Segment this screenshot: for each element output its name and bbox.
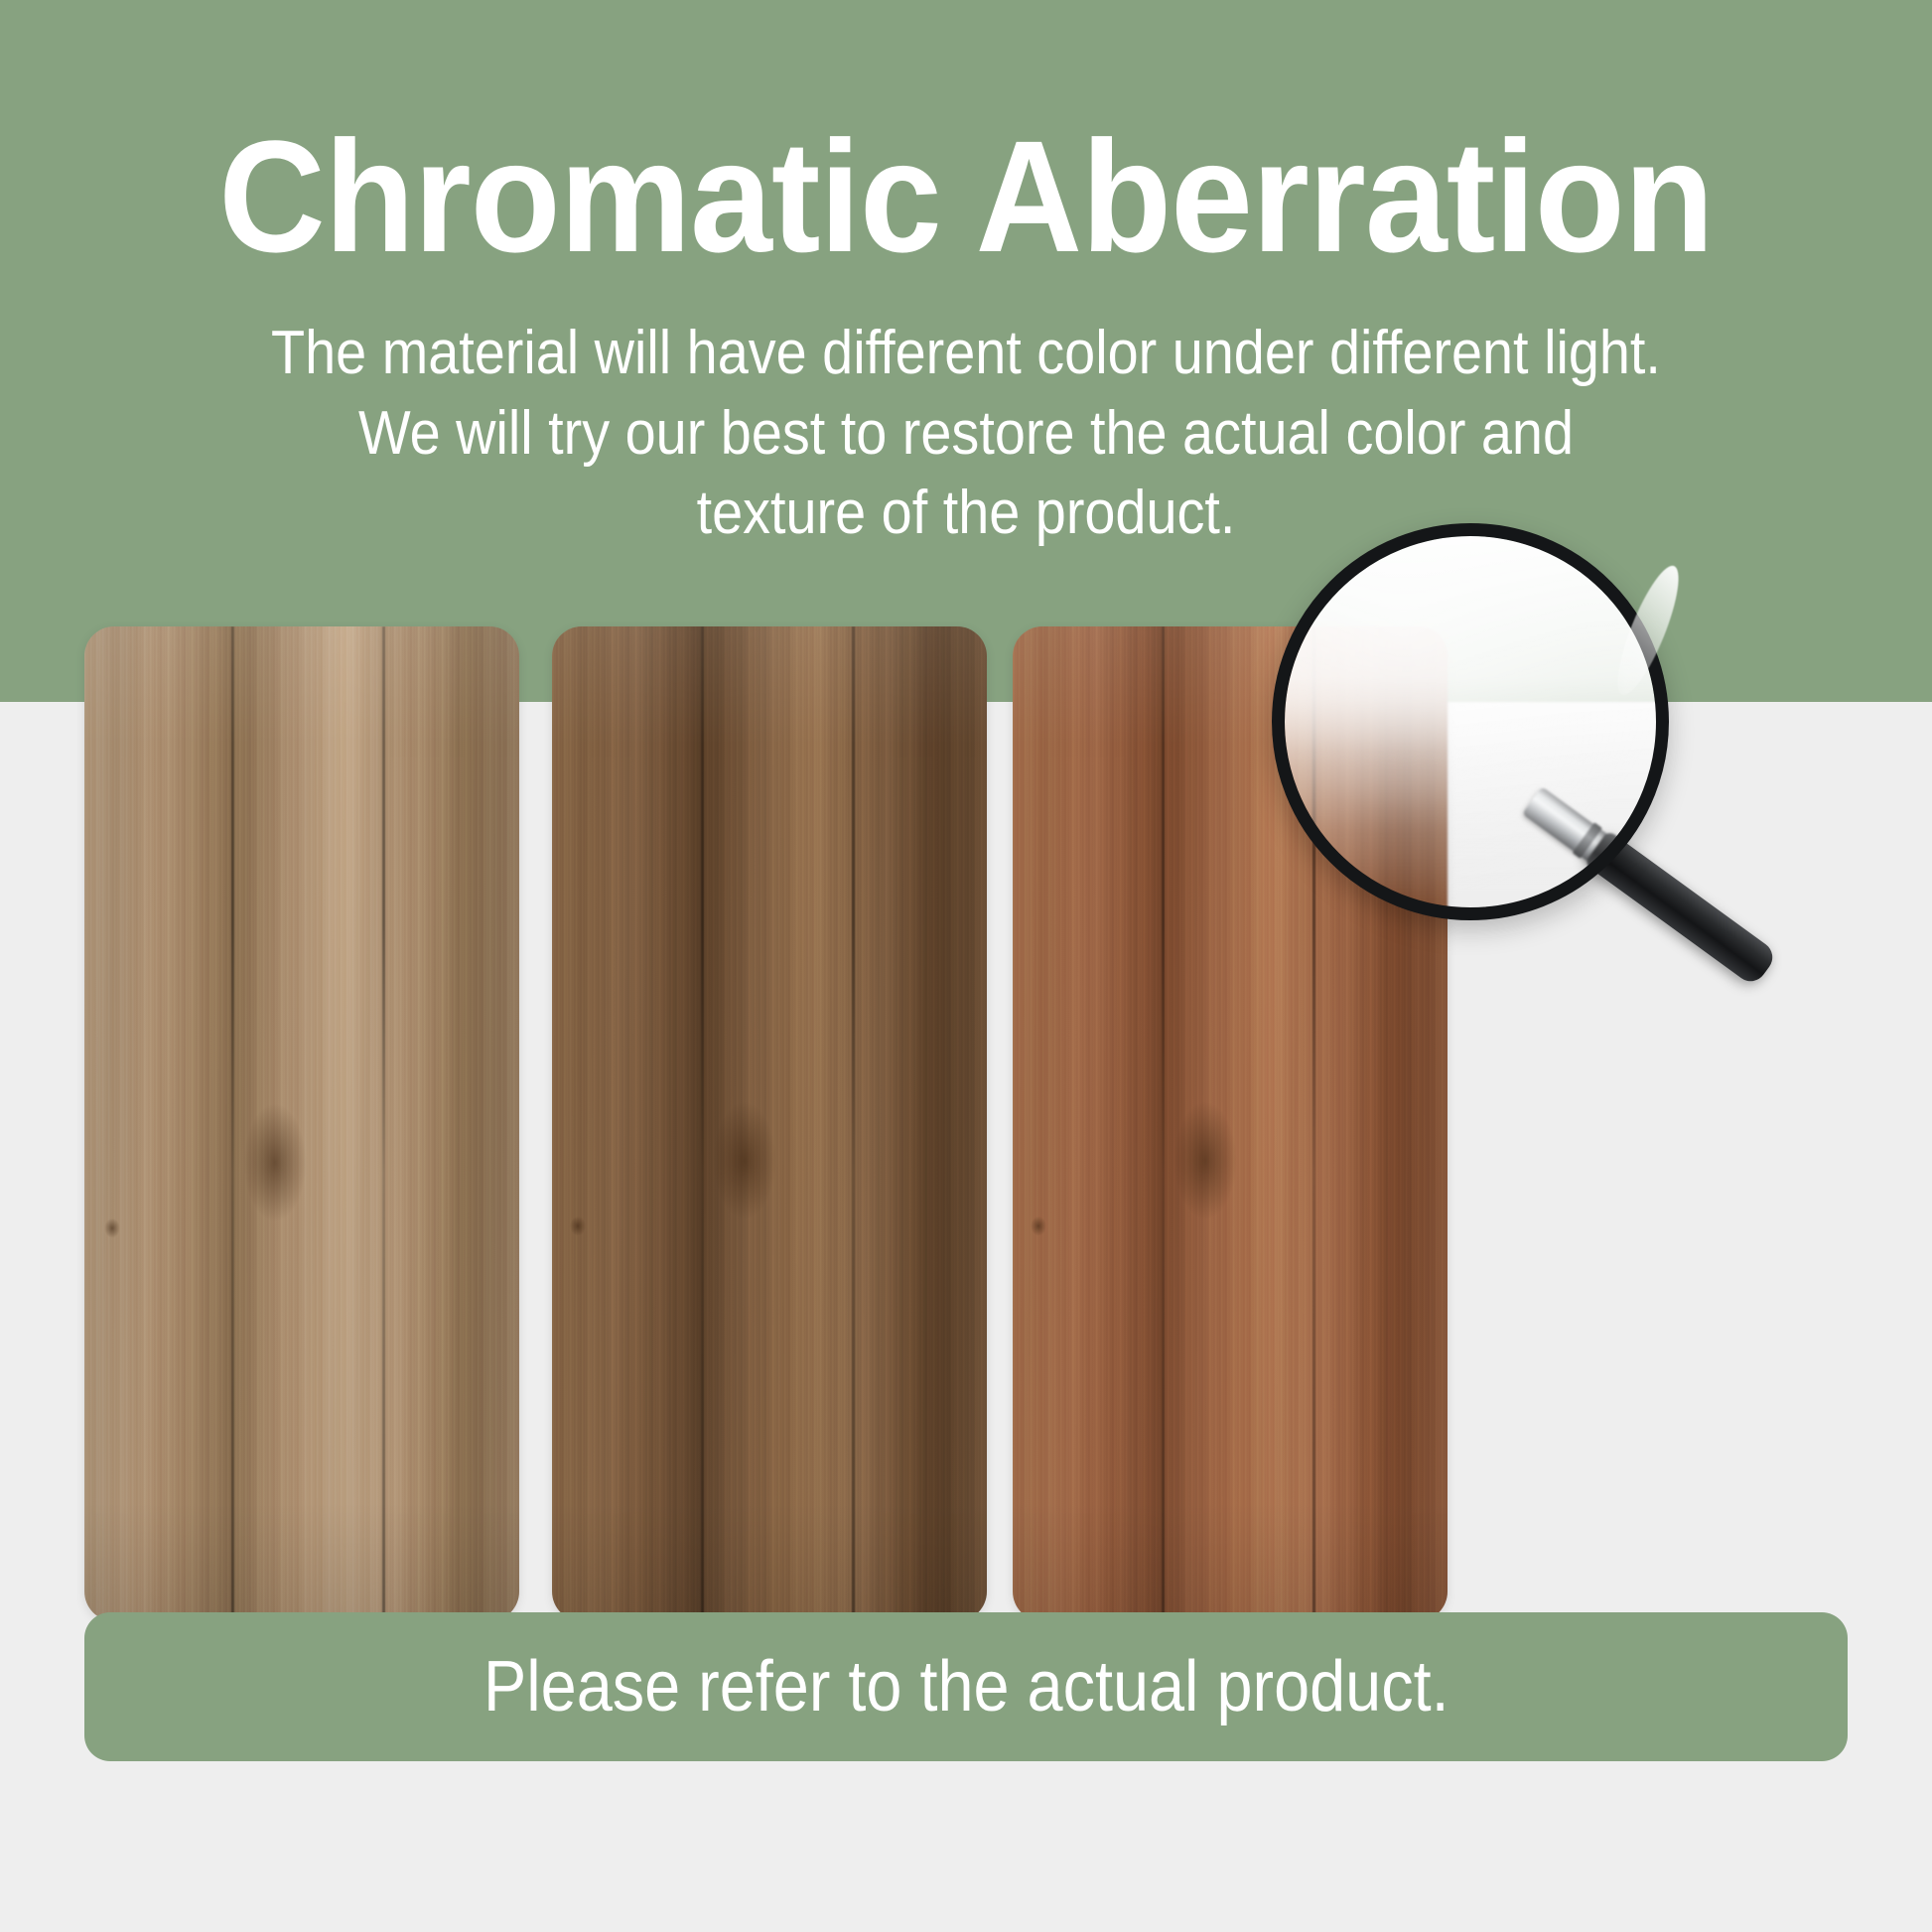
wood-swatch-medium-walnut[interactable] — [552, 626, 987, 1621]
page-subtitle: The material will have different color u… — [96, 276, 1835, 554]
subtitle-line-1: The material will have different color u… — [96, 314, 1835, 394]
wood-texture — [84, 626, 519, 1621]
page-title: Chromatic Aberration — [68, 117, 1864, 276]
wood-texture — [1013, 626, 1448, 1621]
header-banner: Chromatic Aberration The material will h… — [0, 0, 1932, 702]
wood-vignette — [1013, 626, 1448, 1621]
wood-swatch-warm-chestnut[interactable] — [1013, 626, 1448, 1621]
subtitle-line-3: texture of the product. — [96, 474, 1835, 554]
subtitle-line-2: We will try our best to restore the actu… — [96, 394, 1835, 475]
footer-banner: Please refer to the actual product. — [84, 1612, 1848, 1761]
wood-swatch-light-oak[interactable] — [84, 626, 519, 1621]
wood-texture — [552, 626, 987, 1621]
footer-text: Please refer to the actual product. — [483, 1651, 1449, 1723]
wood-vignette — [552, 626, 987, 1621]
wood-vignette — [84, 626, 519, 1621]
